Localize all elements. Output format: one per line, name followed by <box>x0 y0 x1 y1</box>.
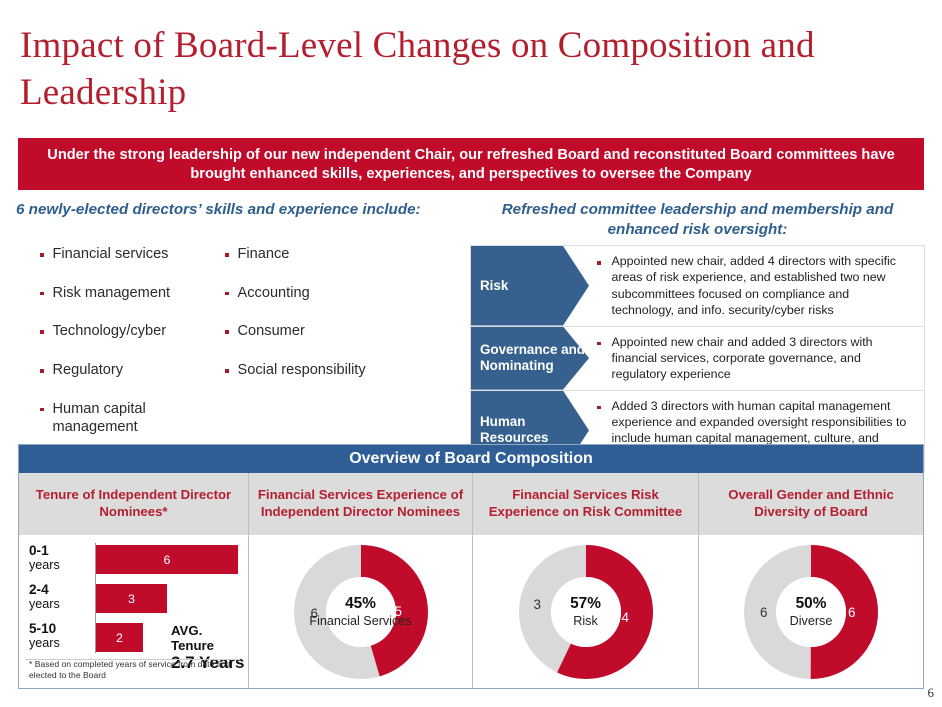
banner-text: Under the strong leadership of our new i… <box>32 146 910 185</box>
bar-range: 0-1 <box>29 543 49 558</box>
committee-name: Governance and Nominating <box>480 342 589 375</box>
skills-heading: 6 newly-elected directors’ skills and ex… <box>16 200 466 220</box>
bar-category-label: 5-10 years <box>29 621 91 650</box>
list-item: Human capital management <box>40 400 230 437</box>
committee-detail-cell: Appointed new chair and added 3 director… <box>589 327 924 390</box>
committee-detail-text: Appointed new chair, added 4 directors w… <box>612 253 915 319</box>
bar-range: 5-10 <box>29 621 56 636</box>
tenure-chart-area: 0-1 years 6 2-4 years 3 <box>19 535 248 688</box>
page-title: Impact of Board-Level Changes on Composi… <box>20 22 910 117</box>
donut-hole <box>326 577 396 647</box>
donut-value-gray: 6 <box>311 606 318 621</box>
list-item-label: Finance <box>238 245 290 264</box>
list-item-label: Regulatory <box>53 361 124 380</box>
donut-area-risk: 57% Risk 4 3 <box>473 535 698 688</box>
bullet-square-icon <box>40 330 44 334</box>
list-item-label: Technology/cyber <box>53 322 167 341</box>
highlight-banner: Under the strong leadership of our new i… <box>18 138 924 190</box>
average-tenure-caption: AVG. Tenure <box>171 623 248 653</box>
committee-detail-text: Appointed new chair and added 3 director… <box>612 334 915 383</box>
bullet-square-icon <box>225 369 229 373</box>
donut-value-red: 5 <box>395 604 402 619</box>
committee-chevron-risk: Risk <box>471 246 589 326</box>
list-item: Accounting <box>225 284 455 303</box>
column-header: Financial Services Experience of Indepen… <box>249 473 472 535</box>
tenure-bar-chart: 0-1 years 6 2-4 years 3 <box>19 535 248 688</box>
overview-column-risk-experience: Financial Services Risk Experience on Ri… <box>473 473 699 688</box>
bullet-square-icon <box>597 261 601 265</box>
list-item-label: Social responsibility <box>238 361 366 380</box>
bullet-square-icon <box>40 292 44 296</box>
bar-unit: years <box>29 558 60 572</box>
column-header: Tenure of Independent Director Nominees* <box>19 473 248 535</box>
list-item: Financial services <box>40 245 230 264</box>
donut-value-red: 4 <box>622 610 629 625</box>
bar-value: 6 <box>164 553 171 567</box>
table-row: Risk Appointed new chair, added 4 direct… <box>470 245 925 326</box>
committee-table: Risk Appointed new chair, added 4 direct… <box>470 245 925 471</box>
donut-value-red: 6 <box>848 605 855 620</box>
bar-2-4-years: 3 <box>96 584 167 613</box>
donut-svg <box>519 545 653 679</box>
bar-0-1-years: 6 <box>96 545 238 574</box>
table-row: Governance and Nominating Appointed new … <box>470 326 925 390</box>
donut-hole <box>551 577 621 647</box>
list-item-label: Human capital management <box>53 400 231 437</box>
bar-value: 3 <box>128 592 135 606</box>
donut-chart-financial-services: 45% Financial Services 5 6 <box>294 545 428 679</box>
list-item: Regulatory <box>40 361 230 380</box>
overview-column-diversity: Overall Gender and Ethnic Diversity of B… <box>699 473 923 688</box>
bullet-square-icon <box>225 253 229 257</box>
donut-chart-risk: 57% Risk 4 3 <box>519 545 653 679</box>
bullet-square-icon <box>597 406 601 410</box>
tenure-footnote: * Based on completed years of service fr… <box>29 659 234 682</box>
committee-detail-cell: Appointed new chair, added 4 directors w… <box>589 246 924 326</box>
list-item: Consumer <box>225 322 455 341</box>
bar-5-10-years: 2 <box>96 623 143 652</box>
donut-hole <box>776 577 846 647</box>
committee-name: Human Resources <box>480 414 589 447</box>
committee-name: Risk <box>480 278 508 294</box>
bullet-square-icon <box>40 253 44 257</box>
skills-column-right: Finance Accounting Consumer Social respo… <box>225 245 455 400</box>
bar-unit: years <box>29 636 60 650</box>
list-item-label: Accounting <box>238 284 310 303</box>
bar-category-label: 2-4 years <box>29 582 91 611</box>
bar-value: 2 <box>116 631 123 645</box>
skills-column-left: Financial services Risk management Techn… <box>40 245 230 457</box>
list-item: Social responsibility <box>225 361 455 380</box>
list-item-label: Financial services <box>53 245 169 264</box>
list-item: Risk management <box>40 284 230 303</box>
column-header: Financial Services Risk Experience on Ri… <box>473 473 698 535</box>
board-composition-panel: Overview of Board Composition Tenure of … <box>18 444 924 689</box>
list-item: Finance <box>225 245 455 264</box>
overview-title: Overview of Board Composition <box>19 445 923 473</box>
page-number: 6 <box>928 685 935 701</box>
bar-range: 2-4 <box>29 582 49 597</box>
bar-unit: years <box>29 597 60 611</box>
bullet-square-icon <box>40 408 44 412</box>
overview-column-financial-services: Financial Services Experience of Indepen… <box>249 473 473 688</box>
committees-heading: Refreshed committee leadership and membe… <box>470 200 925 240</box>
donut-area-diversity: 50% Diverse 6 6 <box>699 535 923 688</box>
list-item: Technology/cyber <box>40 322 230 341</box>
bullet-square-icon <box>225 330 229 334</box>
donut-chart-diversity: 50% Diverse 6 6 <box>744 545 878 679</box>
overview-columns: Tenure of Independent Director Nominees*… <box>19 473 923 688</box>
donut-value-gray: 3 <box>534 597 541 612</box>
bar-category-label: 0-1 years <box>29 543 91 572</box>
bullet-square-icon <box>40 369 44 373</box>
committee-chevron-governance-and-nominating: Governance and Nominating <box>471 327 589 390</box>
bullet-square-icon <box>597 342 601 346</box>
overview-column-tenure: Tenure of Independent Director Nominees*… <box>19 473 249 688</box>
bullet-square-icon <box>225 292 229 296</box>
donut-value-gray: 6 <box>760 605 767 620</box>
list-item-label: Consumer <box>238 322 305 341</box>
donut-area-financial-services: 45% Financial Services 5 6 <box>249 535 472 688</box>
list-item-label: Risk management <box>53 284 171 303</box>
column-header: Overall Gender and Ethnic Diversity of B… <box>699 473 923 535</box>
